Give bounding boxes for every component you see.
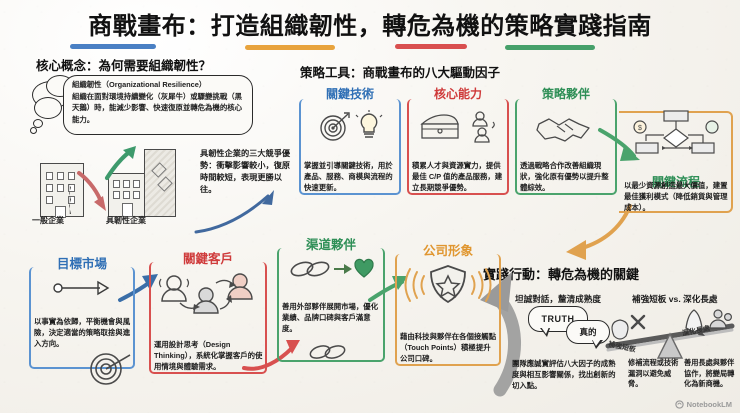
title-container: 商戰畫布：打造組織韌性，轉危為機的策略實踐指南: [0, 6, 740, 41]
chain-link-icon: [288, 257, 374, 281]
card-icons: [392, 262, 504, 308]
driver-card-key-technology[interactable]: 關鍵技術 掌握並引導關鍵技術，用於產品、服務、商模與流程的快速更新。: [296, 85, 404, 197]
label-ordinary-enterprise: 一般企業: [32, 215, 64, 226]
growth-arrow-icon: [104, 145, 140, 181]
seesaw-icon: [600, 306, 740, 362]
watermark-label: NotebookLM: [687, 400, 732, 409]
svg-text:$: $: [638, 125, 642, 132]
card-icons: [404, 105, 512, 149]
enterprise-comparison: 一般企業 具韌性企業: [28, 145, 198, 223]
speech-bubble-tail-inner-icon: [541, 327, 549, 334]
driver-card-core-capability[interactable]: 核心能力 積累人才與資源實力，提供最佳 C/P 值的產品服務，建立長期競爭優勢。: [404, 85, 512, 197]
card-title: 公司形象: [392, 240, 504, 259]
user-persona-icon: [156, 269, 260, 317]
card-icons: [146, 268, 270, 318]
watermark: NotebookLM: [675, 400, 732, 409]
advantages-text: 具韌性企業的三大競爭優勢：衝擊影響較小，復原時間較短，表現更勝以往。: [200, 148, 296, 196]
treasure-chest-icon: [418, 110, 462, 144]
card-title: 渠道夥伴: [274, 234, 388, 253]
page-title: 商戰畫布：打造組織韌性，轉危為機的策略實踐指南: [82, 6, 658, 41]
action-subheading-left: 坦誠對話，釐清成熟度: [515, 293, 601, 305]
section-heading-core-concept: 核心概念：為何需要組織韌性？: [36, 55, 211, 74]
card-body: 積累人才與資源實力，提供最佳 C/P 值的產品服務，建立長期競爭優勢。: [412, 160, 505, 193]
title-underline-red: [395, 44, 467, 49]
cloud-puff-icon: [30, 127, 37, 134]
driver-card-channel-partner[interactable]: 渠道夥伴 善用外部夥伴展開市場，優化業績、品牌口碑與客戶滿意度。: [274, 234, 388, 364]
card-body: 以事實為依歸，平衡機會與風險，決定適當的策略取捨與進入方向。: [34, 316, 131, 349]
driver-card-target-market[interactable]: 目標市場 以事實為依歸，平衡機會與風險，決定適當的策略取捨與進入方向。: [26, 253, 138, 371]
chain-link-icon: [308, 342, 348, 362]
notebooklm-logo-icon: [675, 400, 684, 409]
label-resilient-enterprise: 具韌性企業: [106, 215, 146, 226]
driver-card-key-process[interactable]: $ 關鍵流程 以最少資源創造最大價值，建置最佳獲利模式（降低銷貨與管理成本）。: [616, 97, 736, 215]
cloud-puff-icon: [34, 97, 62, 119]
card-title: 目標市場: [26, 253, 138, 272]
card-body: 透過戰略合作改善組織現狀，強化原有優勢以提升整體綜效。: [520, 160, 613, 193]
thought-cloud: 組織韌性（Organizational Resilience） 組織在面對環境持…: [30, 75, 252, 137]
handshake-icon: [535, 110, 597, 144]
shield-star-icon: [407, 262, 489, 308]
seesaw-diagram: 補強短板 深化長處: [600, 306, 740, 362]
card-title: 關鍵技術: [296, 85, 404, 102]
card-body: 藉由科技與夥伴在各個接觸點（Touch Points）積極提升公司口碑。: [400, 331, 497, 364]
card-body: 掌握並引導關鍵技術，用於產品、服務、商模與流程的快速更新。: [304, 160, 397, 193]
flowchart-icon: $: [626, 109, 726, 165]
action-body-right-left: 修補流程或技術漏洞以避免威脅。: [628, 358, 680, 390]
card-body: 以最少資源創造最大價值，建置最佳獲利模式（降低銷貨與管理成本）。: [624, 180, 729, 213]
section-heading-action: 實踐行動：轉危為機的關鍵: [483, 264, 639, 283]
resilience-definition: 組織在面對環境持續變化（灰犀牛）或驟變挑戰（黑天鵝）時，能減少影響、快速復原並轉…: [72, 91, 244, 126]
resilient-enterprise-tower-icon: [144, 149, 176, 217]
dartboard-icon: [84, 347, 132, 383]
lightbulb-icon: [356, 111, 382, 143]
people-icon: [468, 110, 498, 144]
card-body: 運用設計思考（Design Thinking），系統化掌握客戶的使用情境與體驗需…: [154, 339, 263, 372]
card-title: 核心能力: [404, 85, 512, 102]
card-title: 關鍵客戶: [146, 248, 270, 267]
title-underline-blue: [70, 44, 156, 49]
card-icons: $: [616, 107, 736, 167]
arrow-right-icon: [52, 280, 112, 296]
action-subheading-right: 補強短板 vs. 深化長處: [632, 293, 717, 305]
card-body: 善用外部夥伴展開市場，優化業績、品牌口碑與客戶滿意度。: [282, 301, 381, 334]
driver-card-key-customer[interactable]: 關鍵客戶 運用設計思考（Design Thinking），系統化掌握客戶的使用情…: [146, 248, 270, 376]
target-icon: [318, 111, 350, 143]
action-body-left: 團隊應誠實評估八大因子的成熟度與相互影響關係，找出創新的切入點。: [512, 358, 617, 391]
card-title: 策略夥伴: [512, 85, 620, 102]
card-icons: [296, 105, 404, 149]
section-heading-tools: 策略工具：商戰畫布的八大驅動因子: [300, 62, 500, 81]
title-underline-orange: [245, 45, 335, 50]
card-icons: [26, 277, 138, 299]
cloud-text-block: 組織韌性（Organizational Resilience） 組織在面對環境持…: [72, 79, 244, 125]
infographic-canvas: 商戰畫布：打造組織韌性，轉危為機的策略實踐指南 核心概念：為何需要組織韌性？ 策…: [0, 0, 740, 413]
card-icons: [512, 105, 620, 149]
driver-card-company-image[interactable]: 公司形象 藉由科技與夥伴在各個接觸點（Touch Points）積極提升公司口碑…: [392, 240, 504, 368]
title-underline-green: [505, 45, 595, 50]
action-body-right-right: 善用長處與夥伴協作，將變局轉化為新商機。: [684, 358, 736, 390]
resilience-term: 組織韌性（Organizational Resilience）: [72, 79, 244, 91]
driver-card-strategic-partner[interactable]: 策略夥伴 透過戰略合作改善組織現狀，強化原有優勢以提升整體綜效。: [512, 85, 620, 197]
card-icons: [274, 256, 388, 282]
